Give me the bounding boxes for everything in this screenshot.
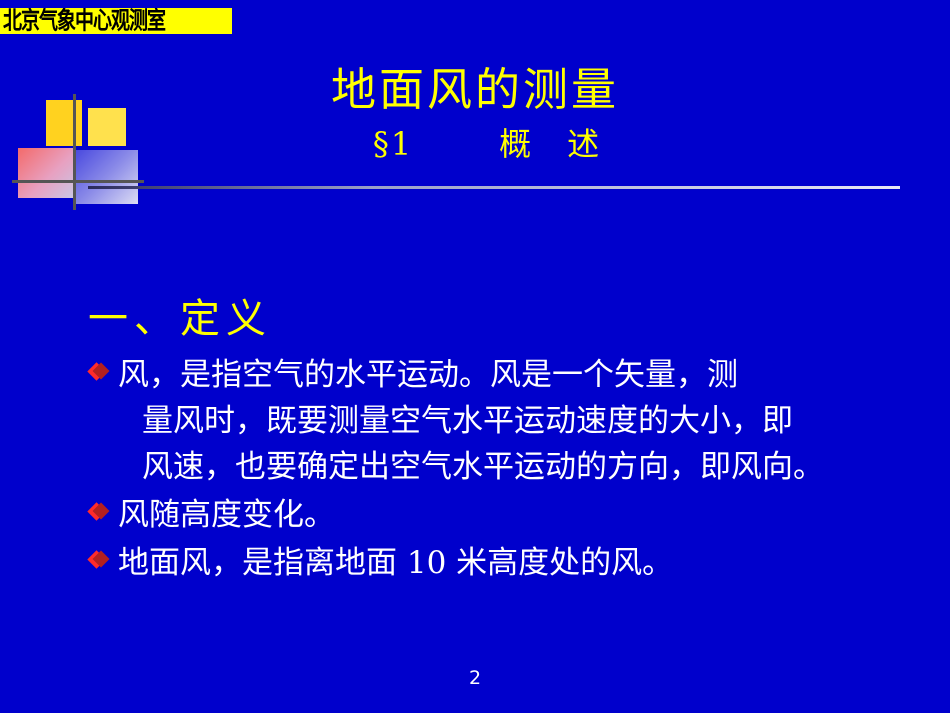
slide: 北京气象中心观测室 地面风的测量 §1概 述 一、定义 风，是指空气的水平运动。…: [0, 0, 950, 713]
list-item: 风随高度变化。: [88, 492, 908, 538]
bullet-line: 地面风，是指离地面 10 米高度处的风。: [118, 545, 673, 581]
bullet-line: 风速，也要确定出空气水平运动的方向，即风向。: [118, 444, 908, 490]
diamond-bullet-icon: [88, 503, 108, 523]
diamond-bullet-icon: [88, 363, 108, 383]
slide-subtitle: §1概 述: [0, 122, 950, 166]
header-banner-label: 北京气象中心观测室: [0, 9, 165, 34]
page-number: 2: [0, 667, 950, 689]
section-mark: §1: [373, 125, 413, 163]
header-banner: 北京气象中心观测室: [0, 8, 232, 34]
list-item: 地面风，是指离地面 10 米高度处的风。: [88, 540, 908, 586]
bullet-line: 量风时，既要测量空气水平运动速度的大小，即: [118, 398, 908, 444]
slide-title: 地面风的测量: [0, 62, 950, 118]
bullet-line: 风随高度变化。: [118, 497, 335, 533]
bullet-line: 风，是指空气的水平运动。风是一个矢量，测: [118, 357, 738, 393]
logo-horizontal-line: [12, 180, 144, 183]
diamond-bullet-icon: [88, 551, 108, 571]
bullet-list: 风，是指空气的水平运动。风是一个矢量，测 量风时，既要测量空气水平运动速度的大小…: [88, 352, 908, 588]
section-heading: 一、定义: [88, 295, 272, 343]
list-item: 风，是指空气的水平运动。风是一个矢量，测 量风时，既要测量空气水平运动速度的大小…: [88, 352, 908, 490]
title-divider: [88, 186, 900, 189]
section-name: 概 述: [499, 125, 601, 163]
